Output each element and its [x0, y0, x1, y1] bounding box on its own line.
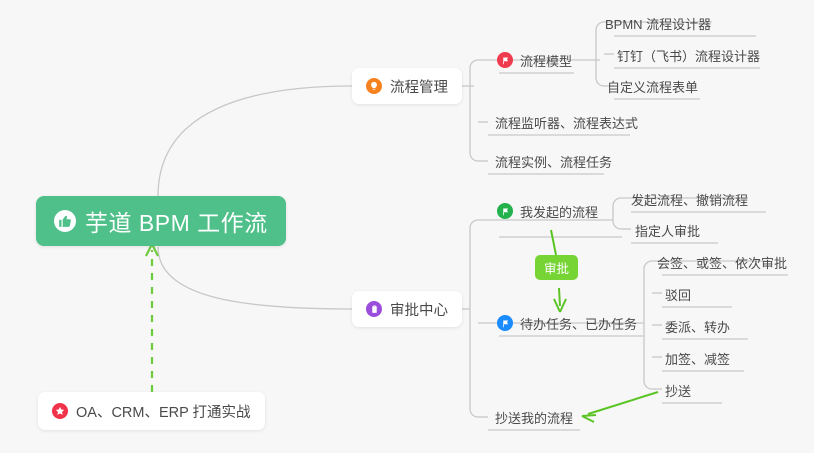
node-label: 会签、或签、依次审批 — [657, 253, 787, 272]
node-dingtalk-designer[interactable]: 钉钉（飞书）流程设计器 — [612, 42, 764, 68]
wire-root-to-process-management — [158, 86, 352, 196]
approval-tag[interactable]: 审批 — [535, 255, 578, 280]
node-label: 委派、转办 — [665, 317, 730, 336]
wire-root-to-approval-center — [158, 247, 352, 309]
node-label: 抄送我的流程 — [495, 408, 573, 427]
dashed-arrow-to-root — [146, 244, 158, 392]
node-my-started-process[interactable]: 我发起的流程 — [492, 198, 602, 224]
node-label: 钉钉（飞书）流程设计器 — [617, 46, 760, 65]
cc-flow-arrow — [582, 392, 658, 422]
node-process-listener[interactable]: 流程监听器、流程表达式 — [490, 109, 642, 135]
thumbs-up-icon — [54, 210, 76, 232]
wire-started-trunk — [613, 198, 621, 229]
node-label: 自定义流程表单 — [607, 77, 698, 96]
node-label: 抄送 — [665, 381, 691, 400]
node-label: 流程实例、流程任务 — [495, 152, 612, 171]
clipboard-icon — [366, 301, 382, 317]
node-label: 加签、减签 — [665, 349, 730, 368]
node-label: 驳回 — [665, 285, 691, 304]
node-label: 待办任务、已办任务 — [520, 314, 637, 333]
bottom-note-node[interactable]: OA、CRM、ERP 打通实战 — [38, 392, 265, 430]
node-delegate-transfer[interactable]: 委派、转办 — [660, 313, 734, 339]
flag-icon — [497, 315, 513, 331]
flag-icon — [497, 52, 513, 68]
node-start-cancel-process[interactable]: 发起流程、撤销流程 — [626, 186, 752, 212]
node-assign-approver[interactable]: 指定人审批 — [630, 217, 704, 243]
flag-icon — [497, 203, 513, 219]
node-todo-done-tasks[interactable]: 待办任务、已办任务 — [492, 310, 641, 336]
node-label: 指定人审批 — [635, 221, 700, 240]
node-cc-to-me-process[interactable]: 抄送我的流程 — [490, 404, 577, 430]
mindmap-canvas: 芋道 BPM 工作流 OA、CRM、ERP 打通实战 流程管理 流程模型 流程监… — [0, 0, 814, 453]
wire-pm-trunk — [470, 60, 478, 161]
node-label: 发起流程、撤销流程 — [631, 190, 748, 209]
node-custom-form[interactable]: 自定义流程表单 — [602, 73, 702, 99]
branch-approval-center[interactable]: 审批中心 — [352, 291, 462, 327]
node-label: 流程模型 — [520, 51, 572, 70]
node-cc[interactable]: 抄送 — [660, 377, 695, 403]
lightbulb-icon — [366, 78, 382, 94]
node-countersign[interactable]: 会签、或签、依次审批 — [652, 249, 791, 275]
node-bpmn-designer[interactable]: BPMN 流程设计器 — [600, 10, 715, 36]
node-process-model[interactable]: 流程模型 — [492, 47, 576, 73]
approval-tag-label: 审批 — [544, 258, 569, 277]
wire-todo-trunk — [644, 261, 652, 389]
root-label: 芋道 BPM 工作流 — [85, 204, 268, 238]
branch-process-management[interactable]: 流程管理 — [352, 68, 462, 104]
node-process-instance[interactable]: 流程实例、流程任务 — [490, 148, 616, 174]
wire-ac-trunk — [470, 220, 478, 417]
node-add-remove-sign[interactable]: 加签、减签 — [660, 345, 734, 371]
star-icon — [52, 403, 68, 419]
node-label: BPMN 流程设计器 — [605, 14, 711, 33]
bottom-note-label: OA、CRM、ERP 打通实战 — [76, 401, 251, 422]
node-reject[interactable]: 驳回 — [660, 281, 695, 307]
branch-label: 流程管理 — [390, 76, 448, 97]
branch-label: 审批中心 — [390, 299, 448, 320]
root-node[interactable]: 芋道 BPM 工作流 — [36, 196, 286, 246]
node-label: 我发起的流程 — [520, 202, 598, 221]
node-label: 流程监听器、流程表达式 — [495, 113, 638, 132]
